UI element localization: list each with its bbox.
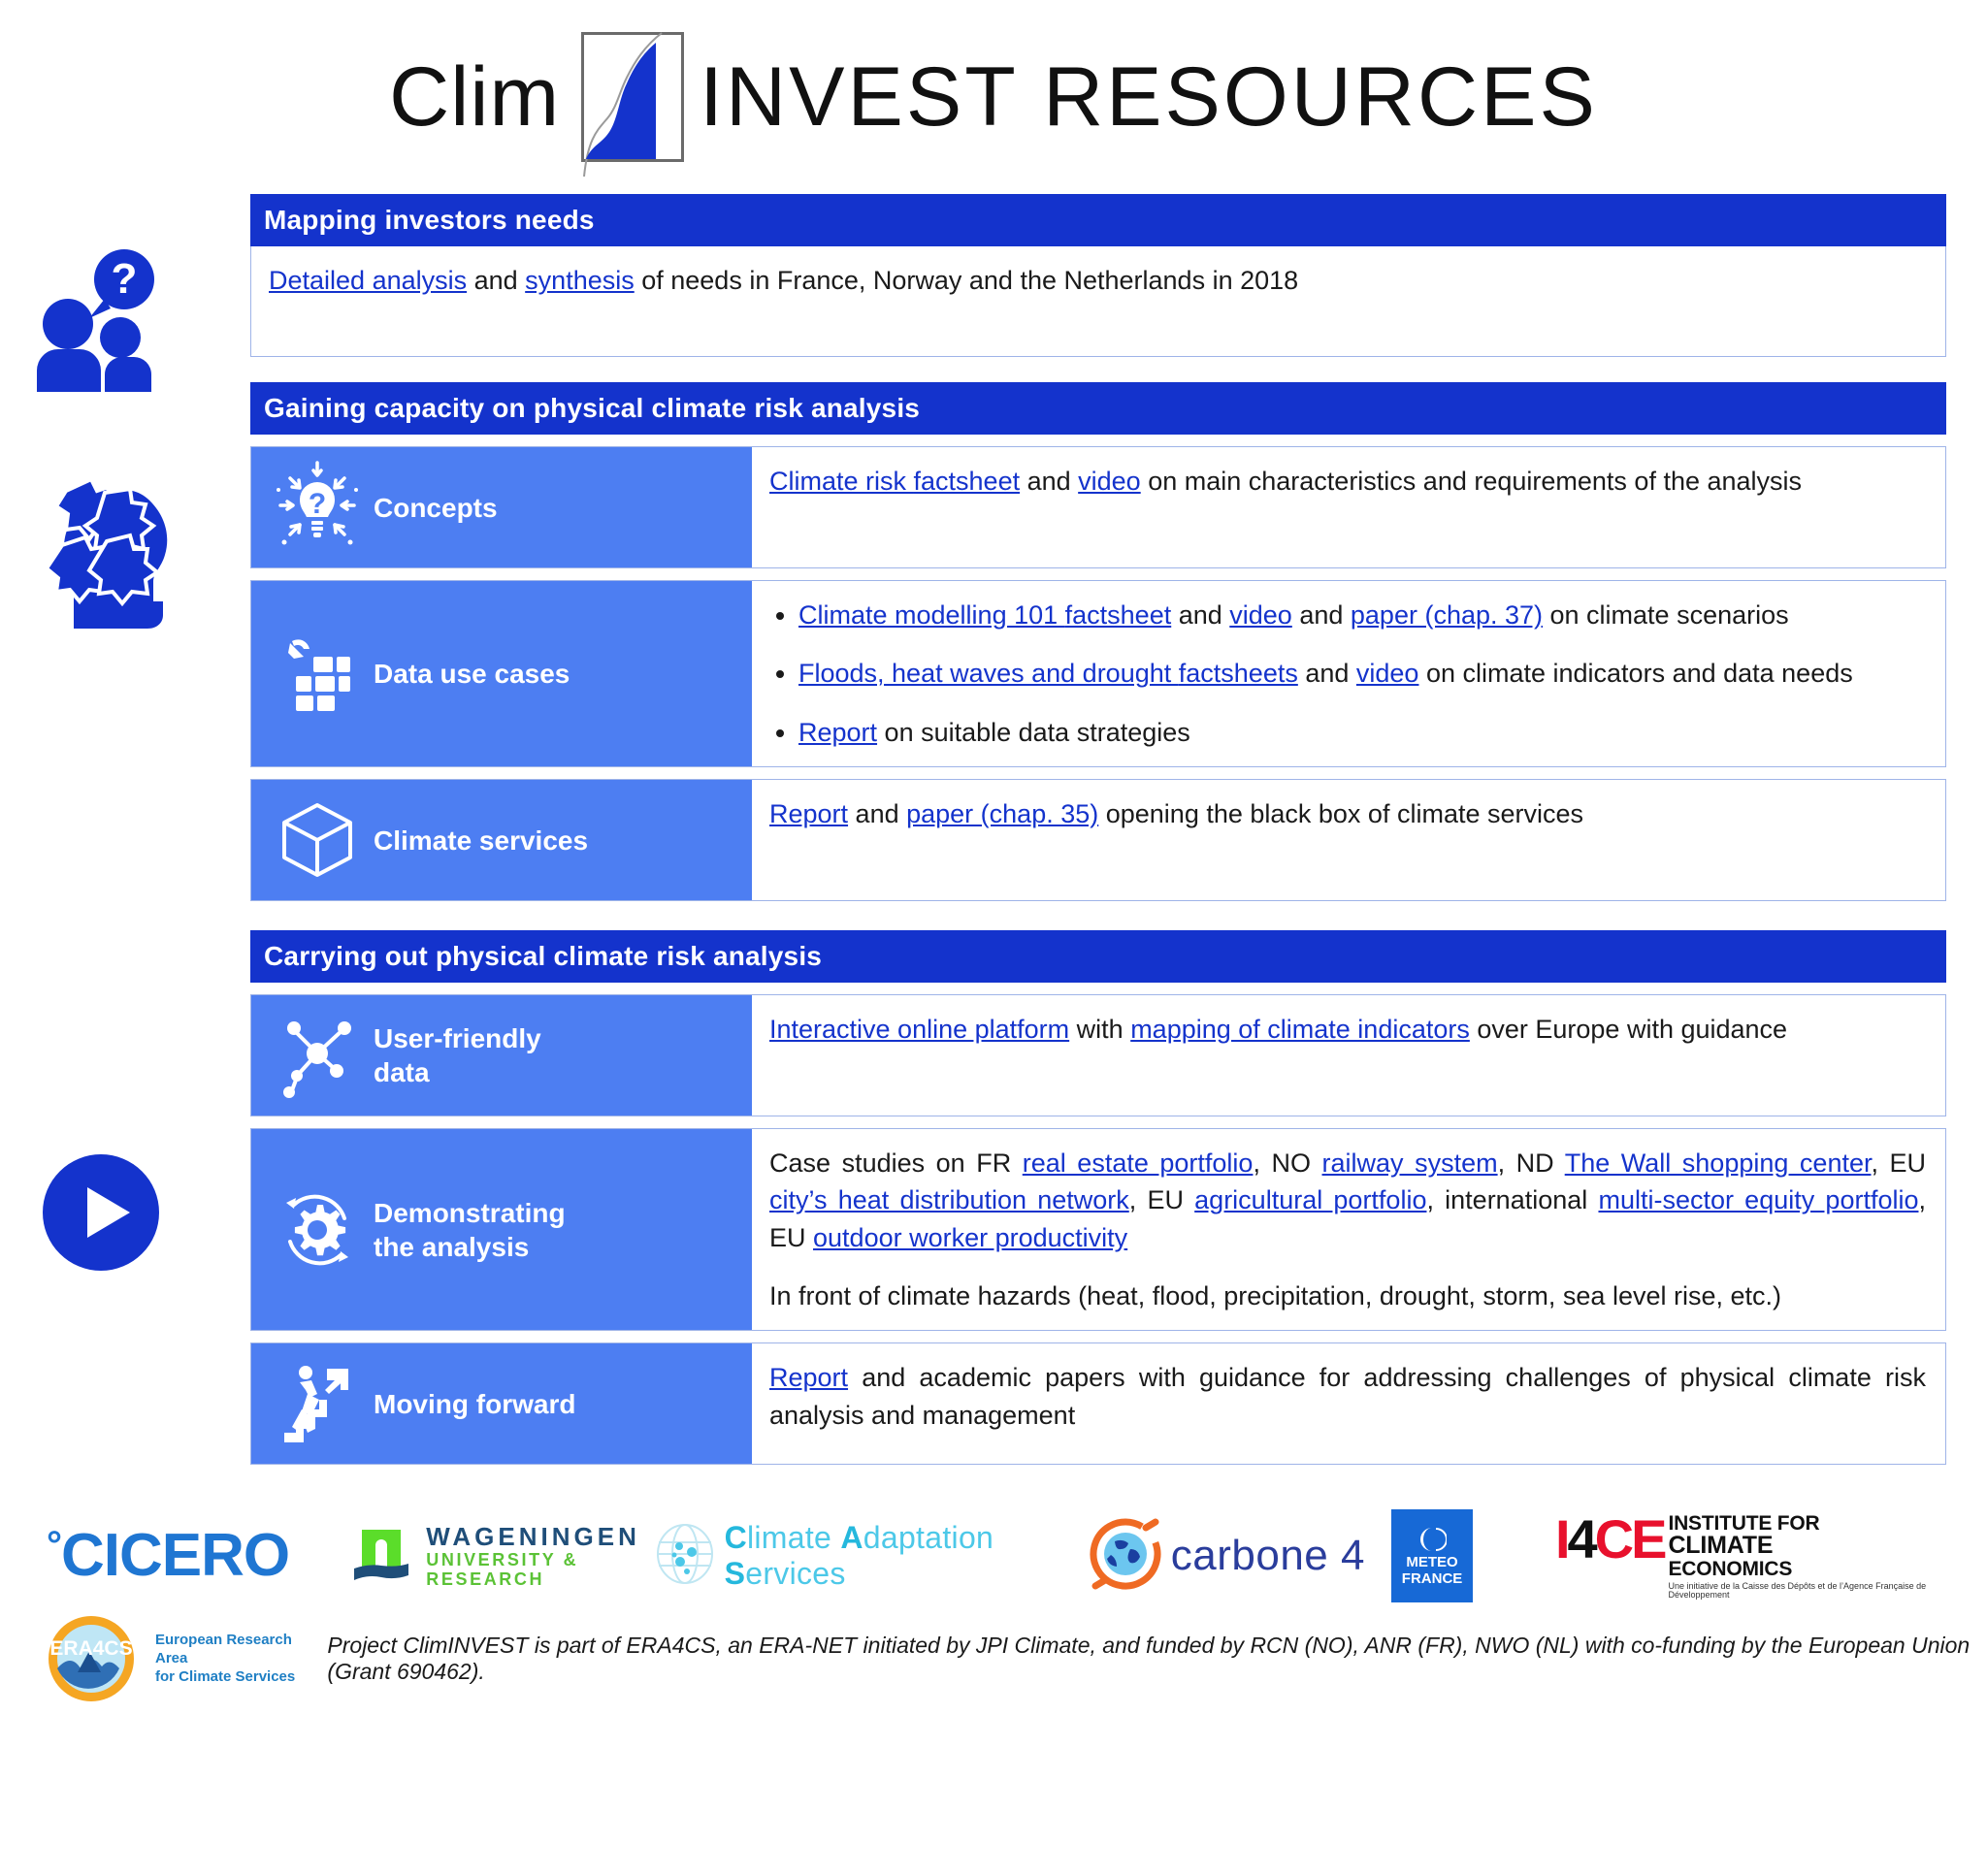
era4cs-tagline: European Research Area for Climate Servi… [155, 1632, 315, 1686]
row-paragraph: Report and academic papers with guidance… [769, 1359, 1926, 1434]
link-railway-system[interactable]: railway system [1322, 1148, 1498, 1178]
data-blocks-icon [267, 628, 368, 721]
row-label-text-climate-services: Climate services [374, 824, 588, 857]
text-run: on suitable data strategies [877, 718, 1190, 747]
row-paragraph: Case studies on FR real estate portfolio… [769, 1145, 1926, 1256]
cas-part-2: A [840, 1520, 863, 1555]
i4ce-mark-4: 4 [1568, 1508, 1595, 1569]
list-item: Report on suitable data strategies [798, 714, 1926, 751]
link-factsheet[interactable]: factsheet [914, 467, 1021, 496]
row-body-demonstrating: Case studies on FR real estate portfolio… [752, 1129, 1945, 1330]
row-label-text-concepts: Concepts [374, 491, 498, 525]
link-detailed-analysis[interactable]: Detailed analysis [269, 266, 467, 295]
text-run: with [1069, 1015, 1130, 1044]
gear-cycle-icon [267, 1183, 368, 1277]
i4ce-line1: INSTITUTE FOR [1668, 1513, 1968, 1534]
link-climate-modelling-101[interactable]: Climate modelling 101 [798, 600, 1065, 630]
text-run: and [848, 799, 906, 828]
text-run: and [1292, 600, 1351, 630]
text-run: In front of climate hazards (heat, flood… [769, 1281, 1781, 1310]
link-report[interactable]: Report [798, 718, 877, 747]
logo-text-invest-resources: INVEST RESOURCES [700, 55, 1598, 139]
carbone4-logo: carbone 4 [1088, 1516, 1391, 1597]
meteo-france-box: METEO FRANCE [1391, 1509, 1473, 1602]
cas-part-4: S [725, 1556, 746, 1591]
link-report[interactable]: Report [769, 799, 848, 828]
text-run: , ND [1498, 1148, 1565, 1178]
row-label-text-user-friendly-data: User-friendlydata [374, 1021, 541, 1089]
cas-part-1: limate [747, 1520, 840, 1555]
row-label-demonstrating: Demonstratingthe analysis [251, 1129, 752, 1330]
text-run: opening the black box of climate service… [1098, 799, 1583, 828]
play-circle-icon[interactable] [41, 1152, 161, 1278]
climate-adaptation-services-logo: Climate Adaptation Services [655, 1520, 1088, 1592]
cicero-logo: °CICERO [47, 1526, 350, 1586]
row-label-text-demonstrating: Demonstratingthe analysis [374, 1196, 566, 1264]
text-run: on main characteristics and requirements… [1141, 467, 1802, 496]
link-paper-chap-35[interactable]: paper (chap. 35) [906, 799, 1098, 828]
svg-text:?: ? [112, 255, 138, 303]
row-demonstrating-the-analysis: Demonstratingthe analysis Case studies o… [250, 1128, 1946, 1331]
wageningen-mark-icon [350, 1528, 412, 1584]
text-run: and [1171, 600, 1229, 630]
link-report[interactable]: Report [769, 1363, 848, 1392]
logo-text-clim: Clim [389, 55, 560, 139]
funding-note-text: Project ClimINVEST is part of ERA4CS, an… [327, 1633, 1987, 1685]
link-factsheet[interactable]: factsheet [1065, 600, 1172, 630]
wageningen-line1: WAGENINGEN [426, 1523, 654, 1551]
funding-note: ERA4CS European Research Area for Climat… [0, 1614, 1987, 1703]
mapping-panel: Detailed analysis and synthesis of needs… [250, 246, 1946, 357]
text-run: , EU [1129, 1185, 1194, 1214]
era4cs-badge-icon: ERA4CS [39, 1614, 144, 1703]
cas-wordmark: Climate Adaptation Services [725, 1520, 1088, 1592]
text-run: on climate scenarios [1543, 600, 1789, 630]
cicero-wordmark: CICERO [61, 1522, 289, 1589]
era4cs-tagline-line1: European Research Area [155, 1632, 315, 1668]
cas-part-3: daptation [863, 1520, 993, 1555]
i4ce-mark-i: I [1555, 1508, 1568, 1569]
link-video[interactable]: video [1356, 659, 1419, 688]
clim-invest-graph-mark-icon [581, 32, 684, 162]
people-question-icon: ? [29, 248, 184, 399]
row-data-use-cases: Data use cases Climate modelling 101 fac… [250, 580, 1946, 767]
link-the-wall-shopping-center[interactable]: The Wall shopping center [1565, 1148, 1872, 1178]
mapping-text-suffix: of needs in France, Norway and the Nethe… [635, 266, 1298, 295]
era4cs-tagline-line2: for Climate Services [155, 1668, 315, 1687]
link-factsheets[interactable]: factsheets [1179, 659, 1298, 688]
row-label-text-moving-forward: Moving forward [374, 1387, 575, 1421]
list-item: Climate modelling 101 factsheet and vide… [798, 597, 1926, 633]
row-label-text-data-use-cases: Data use cases [374, 657, 570, 691]
bullet-list: Climate modelling 101 factsheet and vide… [769, 597, 1926, 751]
text-run: and [1020, 467, 1078, 496]
row-body-moving-forward: Report and academic papers with guidance… [752, 1343, 1945, 1464]
text-run: , EU [1871, 1148, 1926, 1178]
row-label-data-use-cases: Data use cases [251, 581, 752, 766]
list-item: Floods, heat waves and drought factsheet… [798, 655, 1926, 692]
section-header-mapping: Mapping investors needs [250, 194, 1946, 246]
meteo-france-emblem-icon [1417, 1525, 1447, 1554]
row-label-concepts: ? [251, 447, 752, 567]
section-mapping-investors-needs: Mapping investors needs Detailed analysi… [250, 194, 1946, 357]
row-label-climate-services: Climate services [251, 780, 752, 900]
text-run: and [1298, 659, 1356, 688]
mapping-text-mid: and [467, 266, 525, 295]
text-run: , NO [1253, 1148, 1321, 1178]
resources-sheet: ? [0, 194, 1987, 1465]
row-concepts: ? [250, 446, 1946, 568]
i4ce-logo: I4CE INSTITUTE FOR CLIMATE ECONOMICS Une… [1555, 1513, 1968, 1601]
i4ce-mark-ce: CE [1595, 1508, 1665, 1569]
i4ce-mark: I4CE [1555, 1513, 1665, 1565]
cas-part-5: ervices [745, 1556, 845, 1591]
row-paragraph: Climate risk factsheet and video on main… [769, 463, 1926, 500]
cicero-degree-glyph: ° [47, 1524, 61, 1567]
row-body-user-friendly-data: Interactive online platform with mapping… [752, 995, 1945, 1116]
link-video[interactable]: video [1229, 600, 1292, 630]
link-floods-heat-waves-and-drought[interactable]: Floods, heat waves and drought [798, 659, 1179, 688]
link-mapping-of-climate-indicators[interactable]: mapping of climate indicators [1130, 1015, 1470, 1044]
carbone4-globe-icon [1088, 1516, 1163, 1597]
i4ce-line3: ECONOMICS [1668, 1559, 1968, 1579]
section-header-carrying-out: Carrying out physical climate risk analy… [250, 930, 1946, 983]
text-run: Case studies on FR [769, 1148, 1023, 1178]
row-label-moving-forward: Moving forward [251, 1343, 752, 1464]
row-paragraph: Interactive online platform with mapping… [769, 1011, 1926, 1048]
partner-logos: °CICERO WAGENINGEN UNIVERSITY & RESEARCH [0, 1509, 1987, 1602]
section-carrying-out: Carrying out physical climate risk analy… [250, 930, 1946, 1465]
link-city-s-heat-distribution-network[interactable]: city’s heat distribution network [769, 1185, 1129, 1214]
wageningen-line2: UNIVERSITY & RESEARCH [426, 1551, 654, 1590]
row-paragraph: Report and paper (chap. 35) opening the … [769, 795, 1926, 832]
person-stairs-arrow-icon [267, 1357, 368, 1450]
link-multi-sector-equity-portfolio[interactable]: multi-sector equity portfolio [1598, 1185, 1918, 1214]
link-video[interactable]: video [1078, 467, 1141, 496]
carbone4-wordmark: carbone 4 [1171, 1532, 1365, 1580]
link-agricultural-portfolio[interactable]: agricultural portfolio [1194, 1185, 1426, 1214]
link-interactive-online-platform[interactable]: Interactive online platform [769, 1015, 1069, 1044]
text-run: on climate indicators and data needs [1418, 659, 1852, 688]
svg-text:?: ? [309, 488, 326, 520]
row-climate-services: Climate services Report and paper (chap.… [250, 779, 1946, 901]
row-body-climate-services: Report and paper (chap. 35) opening the … [752, 780, 1945, 900]
text-run: and academic papers with guidance for ad… [769, 1363, 1926, 1429]
section-gaining-capacity: Gaining capacity on physical climate ris… [250, 382, 1946, 901]
meteo-france-line2: FRANCE [1402, 1570, 1463, 1587]
head-puzzle-icon [29, 464, 194, 633]
link-climate-risk[interactable]: Climate risk [769, 467, 914, 496]
row-label-user-friendly-data: User-friendlydata [251, 995, 752, 1116]
row-body-data-use-cases: Climate modelling 101 factsheet and vide… [752, 581, 1945, 766]
row-user-friendly-data: User-friendlydata Interactive online pla… [250, 994, 1946, 1116]
i4ce-line2: CLIMATE [1668, 1534, 1968, 1559]
link-outdoor-worker-productivity[interactable]: outdoor worker productivity [813, 1223, 1127, 1252]
box-package-icon [267, 793, 368, 887]
link-paper-chap-37[interactable]: paper (chap. 37) [1351, 600, 1543, 630]
cas-globe-icon [655, 1523, 715, 1590]
cas-part-0: C [725, 1520, 747, 1555]
network-nodes-icon [267, 1009, 368, 1102]
row-moving-forward: Moving forward Report and academic paper… [250, 1342, 1946, 1465]
text-run: over Europe with guidance [1470, 1015, 1787, 1044]
i4ce-text-block: INSTITUTE FOR CLIMATE ECONOMICS Une init… [1668, 1513, 1968, 1601]
i4ce-subtitle: Une initiative de la Caisse des Dépôts e… [1668, 1582, 1968, 1600]
row-body-concepts: Climate risk factsheet and video on main… [752, 447, 1945, 567]
sections-container: Mapping investors needs Detailed analysi… [250, 194, 1946, 1465]
page-logo: Clim INVEST RESOURCES [0, 0, 1987, 194]
link-real-estate-portfolio[interactable]: real estate portfolio [1023, 1148, 1254, 1178]
wageningen-logo: WAGENINGEN UNIVERSITY & RESEARCH [350, 1523, 654, 1589]
era4cs-badge-label: ERA4CS [49, 1637, 132, 1660]
link-synthesis[interactable]: synthesis [525, 266, 635, 295]
row-paragraph: In front of climate hazards (heat, flood… [769, 1278, 1926, 1314]
meteo-france-line1: METEO [1406, 1554, 1457, 1570]
meteo-france-logo: METEO FRANCE [1391, 1509, 1520, 1602]
text-run: , international [1426, 1185, 1598, 1214]
lightbulb-question-icon: ? [267, 461, 368, 554]
section-header-gaining-capacity: Gaining capacity on physical climate ris… [250, 382, 1946, 435]
